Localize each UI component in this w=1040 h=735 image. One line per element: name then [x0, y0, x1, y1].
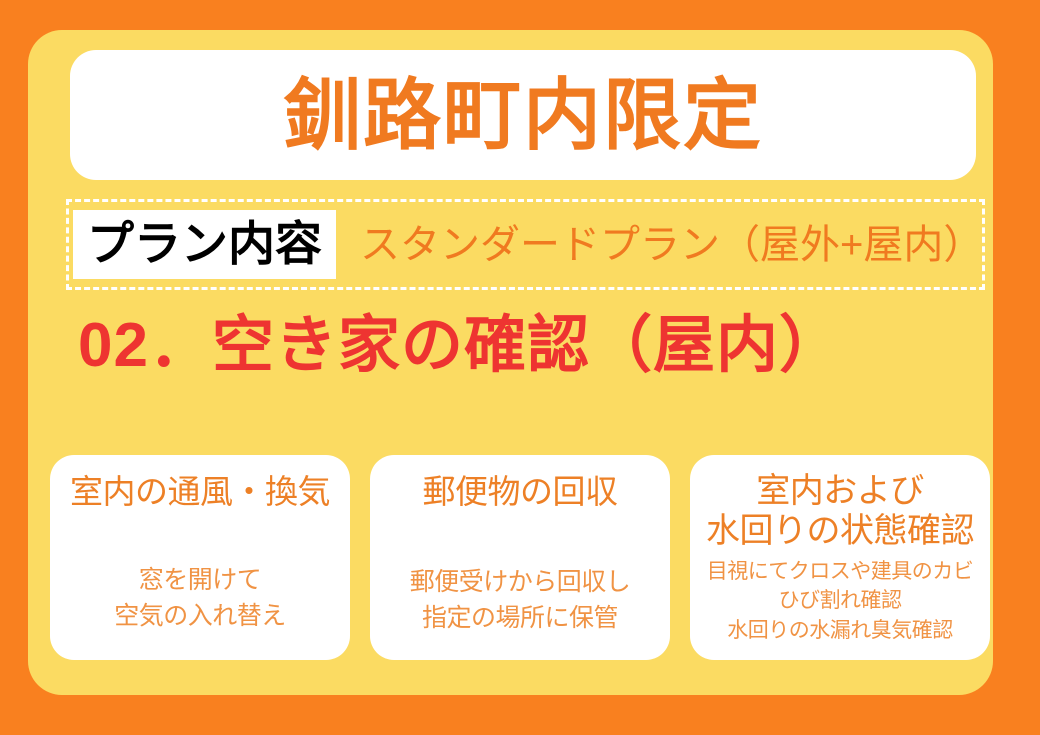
- card-title: 室内および 水回りの状態確認: [706, 471, 974, 551]
- service-card: 室内の通風・換気 窓を開けて 空気の入れ替え: [50, 455, 350, 660]
- title-card: 釧路町内限定: [70, 50, 976, 180]
- service-card: 郵便物の回収 郵便受けから回収し 指定の場所に保管: [370, 455, 670, 660]
- section-heading: 02．空き家の確認（屋内）: [78, 315, 842, 377]
- plan-row: プラン内容 スタンダードプラン（屋外+屋内）: [66, 199, 985, 290]
- card-title: 郵便物の回収: [423, 473, 618, 512]
- card-body: 窓を開けて 空気の入れ替え: [114, 562, 286, 635]
- plan-value: スタンダードプラン（屋外+屋内）: [360, 225, 983, 265]
- plan-label: プラン内容: [73, 210, 336, 279]
- page-title: 釧路町内限定: [283, 76, 763, 154]
- card-row: 室内の通風・換気 窓を開けて 空気の入れ替え 郵便物の回収 郵便受けから回収し …: [50, 455, 990, 660]
- card-body: 郵便受けから回収し 指定の場所に保管: [410, 564, 631, 637]
- service-card: 室内および 水回りの状態確認 目視にてクロスや建具のカビ ひび割れ確認 水回りの…: [690, 455, 990, 660]
- card-body: 目視にてクロスや建具のカビ ひび割れ確認 水回りの水漏れ臭気確認: [707, 557, 974, 646]
- poster-root: 釧路町内限定 プラン内容 スタンダードプラン（屋外+屋内） 02．空き家の確認（…: [0, 0, 1040, 735]
- card-title: 室内の通風・換気: [70, 473, 330, 512]
